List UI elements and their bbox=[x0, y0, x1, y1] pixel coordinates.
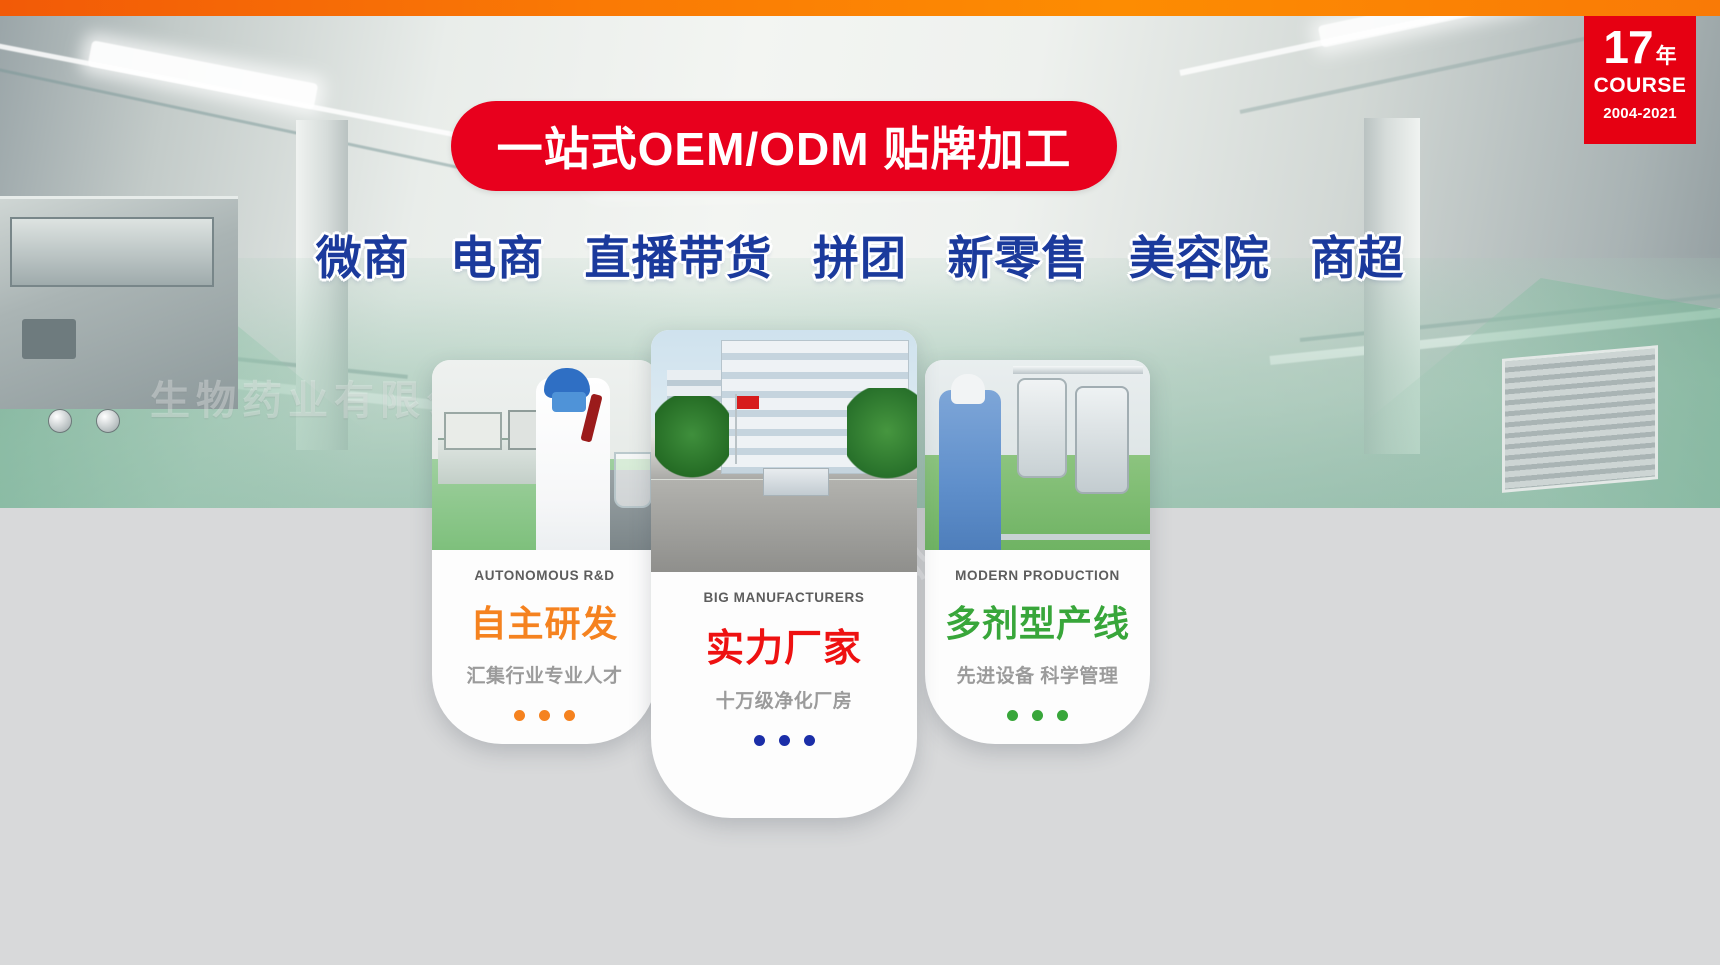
lab-research-photo bbox=[432, 360, 657, 550]
keyword-zhibodaihuo: 直播带货 bbox=[585, 222, 773, 288]
card-dots bbox=[432, 710, 657, 721]
card-subline: 汇集行业专业人才 bbox=[432, 661, 657, 688]
badge-course-label: COURSE bbox=[1584, 74, 1696, 98]
card-subline: 十万级净化厂房 bbox=[651, 686, 917, 713]
card-eyebrow: AUTONOMOUS R&D bbox=[432, 568, 657, 583]
worker-cap-icon bbox=[951, 374, 985, 404]
factory-gate bbox=[763, 468, 829, 496]
flag-icon bbox=[737, 396, 759, 409]
production-tank bbox=[1017, 378, 1067, 478]
dot-indicator bbox=[1057, 710, 1068, 721]
years-experience-badge: 17 年 COURSE 2004-2021 bbox=[1584, 16, 1696, 144]
top-accent-bar bbox=[0, 0, 1720, 16]
keyword-list: 微商 电商 直播带货 拼团 新零售 美容院 商超 bbox=[0, 222, 1720, 288]
production-tank bbox=[1075, 386, 1129, 494]
pipe-icon bbox=[1013, 366, 1143, 374]
keyword-xinlingshou: 新零售 bbox=[947, 222, 1088, 288]
keyword-meirongyuan: 美容院 bbox=[1129, 222, 1270, 288]
card-body: MODERN PRODUCTION 多剂型产线 先进设备 科学管理 bbox=[925, 550, 1150, 721]
card-headline: 多剂型产线 bbox=[925, 595, 1150, 647]
card-dots bbox=[651, 735, 917, 746]
badge-year-char: 年 bbox=[1656, 46, 1677, 67]
card-headline: 自主研发 bbox=[432, 595, 657, 647]
feature-card-big-manufacturers[interactable]: BIG MANUFACTURERS 实力厂家 十万级净化厂房 bbox=[651, 330, 917, 818]
dot-indicator bbox=[1032, 710, 1043, 721]
production-line-photo bbox=[925, 360, 1150, 550]
keyword-pintuan: 拼团 bbox=[813, 222, 907, 288]
feature-card-modern-production[interactable]: MODERN PRODUCTION 多剂型产线 先进设备 科学管理 bbox=[925, 360, 1150, 744]
card-eyebrow: BIG MANUFACTURERS bbox=[651, 590, 917, 605]
dot-indicator bbox=[564, 710, 575, 721]
lab-instrument bbox=[444, 412, 502, 450]
dot-indicator bbox=[804, 735, 815, 746]
card-dots bbox=[925, 710, 1150, 721]
tree-icon bbox=[655, 396, 729, 482]
production-worker bbox=[939, 390, 1001, 550]
main-title-pill: 一站式OEM/ODM 贴牌加工 bbox=[451, 101, 1117, 191]
card-subline: 先进设备 科学管理 bbox=[925, 661, 1150, 688]
main-title-text: 一站式OEM/ODM 贴牌加工 bbox=[497, 113, 1072, 179]
card-body: BIG MANUFACTURERS 实力厂家 十万级净化厂房 bbox=[651, 572, 917, 746]
card-eyebrow: MODERN PRODUCTION bbox=[925, 568, 1150, 583]
keyword-weishang: 微商 bbox=[316, 222, 410, 288]
production-rail bbox=[1001, 534, 1150, 540]
dot-indicator bbox=[779, 735, 790, 746]
face-mask-icon bbox=[552, 392, 586, 412]
tree-icon bbox=[847, 388, 917, 484]
card-headline: 实力厂家 bbox=[651, 617, 917, 672]
badge-top-row: 17 年 bbox=[1584, 24, 1696, 70]
dot-indicator bbox=[539, 710, 550, 721]
glassware-icon bbox=[614, 452, 652, 508]
dot-indicator bbox=[1007, 710, 1018, 721]
feature-card-autonomous-rd[interactable]: AUTONOMOUS R&D 自主研发 汇集行业专业人才 bbox=[432, 360, 657, 744]
dot-indicator bbox=[754, 735, 765, 746]
factory-building-photo bbox=[651, 330, 917, 572]
keyword-shangchao: 商超 bbox=[1310, 222, 1404, 288]
keyword-dianshang: 电商 bbox=[450, 222, 544, 288]
card-body: AUTONOMOUS R&D 自主研发 汇集行业专业人才 bbox=[432, 550, 657, 721]
promo-banner-page: 生物药业有限公司 生物药业有限公司 17 年 COURSE 2004-2021 … bbox=[0, 0, 1720, 965]
badge-year-range: 2004-2021 bbox=[1584, 105, 1696, 122]
badge-number: 17 bbox=[1603, 24, 1652, 70]
dot-indicator bbox=[514, 710, 525, 721]
